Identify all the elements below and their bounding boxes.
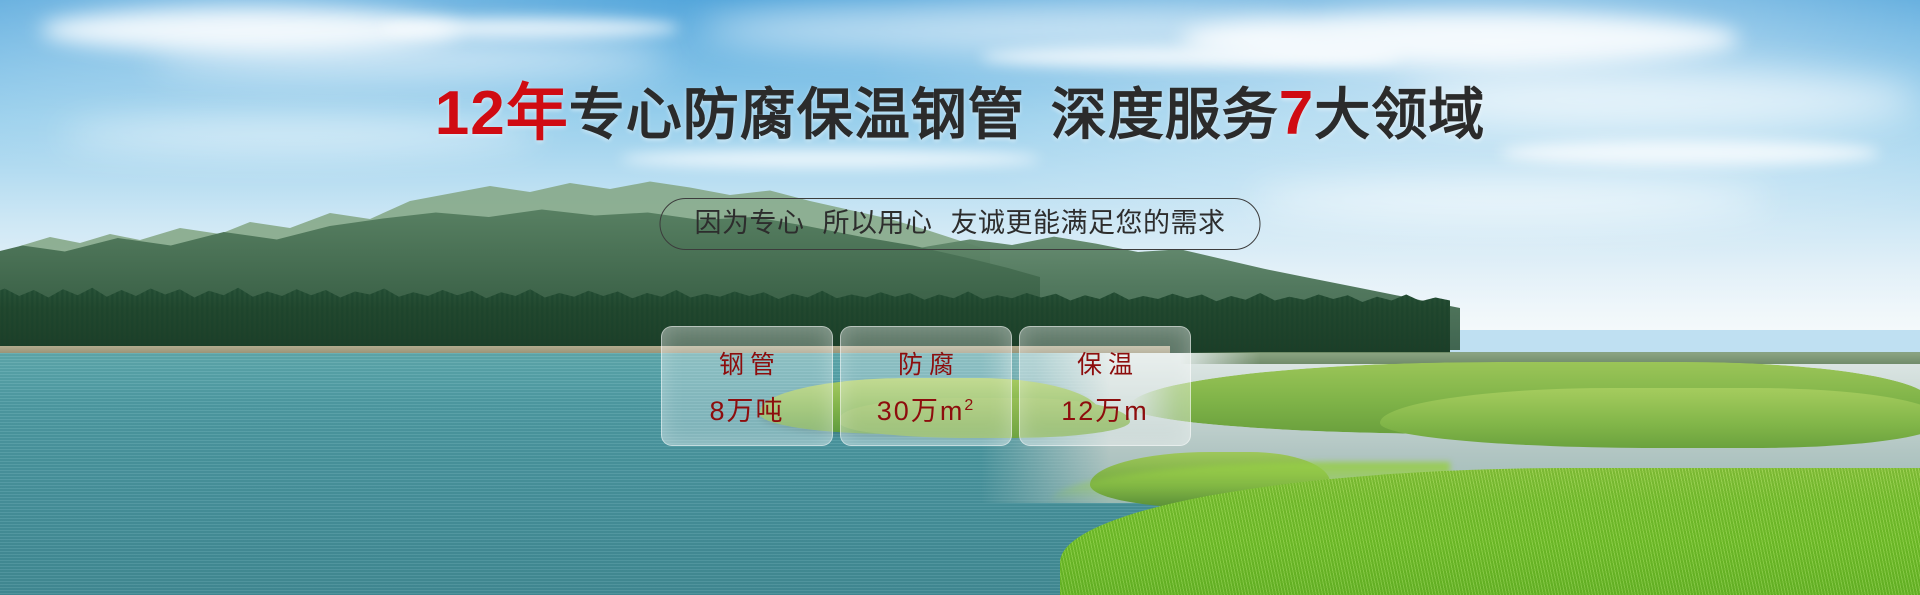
stat-card: 防腐 30万m2 <box>840 326 1012 446</box>
marsh-far-secondary <box>1380 388 1920 448</box>
cloud <box>1250 180 1770 220</box>
stat-card-value: 12万m <box>1061 389 1149 428</box>
stat-card-value-text: 8万吨 <box>709 396 784 426</box>
stat-card-value: 30万m2 <box>877 389 975 428</box>
stat-card-title: 防腐 <box>892 345 960 381</box>
stat-card-title: 保温 <box>1071 345 1139 381</box>
headline-highlight-years: 12年 <box>435 79 569 148</box>
stat-card: 钢管 8万吨 <box>661 326 833 446</box>
headline: 12年专心防腐保温钢管深度服务7大领域 <box>0 83 1920 146</box>
headline-highlight-seven: 7 <box>1279 79 1314 148</box>
stat-card: 保温 12万m <box>1019 326 1191 446</box>
stat-card-value: 8万吨 <box>709 389 784 428</box>
stat-card-value-text: 30万m <box>877 396 965 426</box>
stat-card-group: 钢管 8万吨 防腐 30万m2 保温 12万m <box>661 326 1191 446</box>
subtitle-text: 因为专心所以用心友诚更能满足您的需求 <box>695 206 1226 240</box>
stat-card-unit-exponent: 2 <box>964 397 975 414</box>
promo-banner: 12年专心防腐保温钢管深度服务7大领域 因为专心所以用心友诚更能满足您的需求 钢… <box>0 0 1920 595</box>
cloud <box>150 40 670 76</box>
stat-card-title: 钢管 <box>713 345 781 381</box>
subtitle-part-three: 友诚更能满足您的需求 <box>951 208 1226 238</box>
cloud <box>380 18 680 38</box>
cloud <box>620 150 1040 168</box>
subtitle-part-two: 所以用心 <box>823 208 933 238</box>
subtitle-part-one: 因为专心 <box>695 208 805 238</box>
headline-segment-three: 大领域 <box>1314 83 1485 146</box>
cloud <box>1180 12 1740 66</box>
headline-segment-two: 深度服务 <box>1051 83 1279 146</box>
stat-card-value-text: 12万m <box>1061 396 1149 426</box>
subtitle-pill: 因为专心所以用心友诚更能满足您的需求 <box>660 198 1261 250</box>
headline-segment-one: 专心防腐保温钢管 <box>569 83 1025 146</box>
